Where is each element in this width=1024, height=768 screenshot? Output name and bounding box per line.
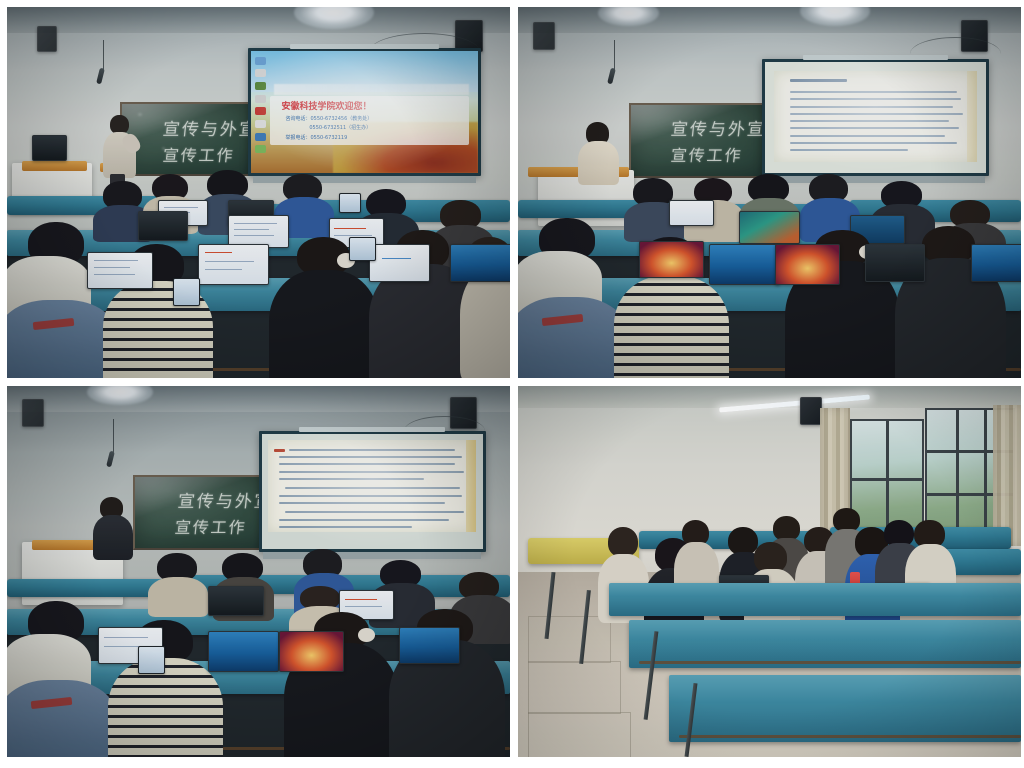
welcome-title: 安徽科技学院欢迎您！: [281, 99, 460, 112]
document-text-line: [790, 98, 961, 100]
laptop-screen: [450, 244, 510, 281]
classroom-scene-4: [518, 386, 1021, 757]
screen-text-line: [205, 261, 254, 262]
document-side-ribbon: [967, 71, 977, 162]
screen-text-line: [205, 252, 232, 253]
student-foreground-denim: [7, 601, 118, 757]
screen-text-line: [234, 223, 277, 224]
laptop-screen: [138, 211, 188, 241]
floor-tile: [528, 661, 621, 715]
student-laptop[interactable]: [138, 211, 188, 241]
photo-panel-top-right: 宣传与外宣 宣传工作: [518, 7, 1021, 378]
presenter: [578, 122, 618, 181]
document-text-line: [279, 526, 412, 528]
student-striped-sweater: [614, 276, 730, 378]
desktop-icon-column: [254, 54, 270, 169]
student-denim-jacket: [7, 680, 118, 757]
student: [148, 553, 208, 616]
student-body: [460, 265, 510, 378]
student-laptop[interactable]: [369, 244, 429, 281]
document-text-line: [790, 149, 908, 151]
blackboard: 宣传与外宣 宣传工作: [120, 102, 257, 176]
wall-speaker-left-icon: [22, 399, 44, 427]
instructor-at-board: [103, 115, 138, 189]
document-text-line: [279, 478, 425, 480]
podium-laptop-screen: [32, 135, 67, 161]
student-denim-jacket: [7, 300, 118, 378]
document-side-ribbon: [466, 440, 476, 532]
screen-text-line: [334, 235, 371, 236]
laptop-screen: [208, 586, 263, 616]
student-striped-sweater: [108, 658, 224, 757]
desktop-icon[interactable]: [255, 120, 266, 128]
screen-text-line: [164, 207, 198, 208]
laptop-screen: [971, 244, 1021, 281]
student-laptop[interactable]: [639, 241, 704, 278]
podium-top-surface: [22, 161, 87, 171]
document-text-line: [289, 449, 455, 451]
desktop-icon[interactable]: [255, 57, 266, 65]
laptop-screen: [639, 241, 704, 278]
laptop-screen: [399, 627, 459, 664]
blackboard-text-line1: 宣传与外宣: [670, 115, 768, 140]
student-laptop[interactable]: [709, 244, 779, 285]
screen-text-line: [345, 599, 377, 600]
laptop-screen: [198, 244, 268, 285]
desktop-icon[interactable]: [255, 69, 266, 77]
desktop-icon[interactable]: [255, 95, 266, 103]
desk-row-1: [669, 675, 1021, 742]
projection-screen: [762, 59, 989, 176]
student-laptop[interactable]: [971, 244, 1021, 281]
laptop-screen: [669, 200, 714, 226]
student-body: [269, 270, 380, 378]
screen-text-line: [94, 260, 138, 261]
welcome-contact-line-2: 0550-6732511（招生办）: [309, 124, 371, 131]
student-phone[interactable]: [138, 646, 165, 674]
laptop-screen: [775, 244, 840, 285]
desktop-icon[interactable]: [255, 82, 266, 90]
screen-text-line: [382, 258, 411, 259]
slide-campus-photo: [274, 84, 469, 95]
presenter: [93, 497, 133, 556]
screen-text-line: [94, 274, 136, 275]
desktop-icon[interactable]: [255, 145, 266, 153]
document-text-line: [285, 487, 460, 489]
laptop-screen: [208, 631, 278, 672]
wall-speaker-left-icon: [37, 26, 57, 52]
blackboard: 宣传与外宣 宣传工作: [629, 103, 769, 177]
document-text-line: [790, 91, 957, 93]
blackboard: 宣传与外宣 宣传工作: [133, 475, 273, 549]
desk-edge: [679, 735, 1021, 738]
student-laptop[interactable]: [208, 586, 263, 616]
podium-laptop: [32, 135, 67, 161]
chalk-dust: [162, 147, 165, 150]
document-text-line: [790, 120, 949, 122]
laptop-screen: [369, 244, 429, 281]
desktop-icon[interactable]: [255, 133, 266, 141]
window-mullion: [956, 410, 959, 544]
screen-text-line: [94, 267, 131, 268]
student-phone[interactable]: [339, 193, 361, 214]
classroom-scene-1: 宣传与外宣 宣传工作: [7, 7, 510, 378]
student-laptop[interactable]: [399, 627, 459, 664]
projected-document: [268, 440, 476, 532]
document-text-line: [279, 502, 445, 504]
hair-tie: [358, 628, 375, 642]
student-laptop[interactable]: [669, 200, 714, 226]
screen-text-line: [334, 228, 366, 229]
student-head: [608, 527, 638, 557]
floor-tile: [528, 616, 610, 663]
photo-panel-bottom-left: 宣传与外宣 宣传工作: [7, 386, 510, 757]
welcome-contact-line-1: 咨询电话：0550-6732456（教务处）: [285, 115, 372, 122]
student-foreground-denim: [518, 218, 629, 378]
student-laptop[interactable]: [198, 244, 268, 285]
document-text-line: [279, 471, 464, 473]
laptop-screen: [865, 244, 925, 281]
document-text-line: [790, 113, 963, 115]
presenter-coat: [578, 141, 618, 185]
document-text-line: [279, 456, 462, 458]
desk-edge: [639, 661, 1021, 664]
wall-speaker-icon: [800, 397, 822, 425]
photo-panel-bottom-right: [518, 386, 1021, 757]
laptop-screen: [87, 252, 152, 289]
student-laptop[interactable]: [450, 244, 510, 281]
blackboard-text-line2: 宣传工作: [162, 142, 236, 166]
welcome-contact-line-3: 举报电话：0550-6732119: [285, 134, 347, 141]
microphone-cable: [103, 40, 104, 70]
document-text-line: [790, 106, 953, 108]
document-heading-marker: [274, 449, 284, 452]
projection-screen: [259, 431, 486, 552]
projection-surface: [765, 62, 986, 173]
projection-screen: 安徽科技学院欢迎您！ 咨询电话：0550-6732456（教务处） 0550-6…: [248, 48, 480, 176]
projection-surface: [262, 434, 483, 549]
document-text-line: [279, 495, 462, 497]
microphone-cable: [113, 419, 114, 452]
document-text-line: [790, 127, 959, 129]
screen-text-line: [205, 269, 242, 270]
blackboard-text-line2: 宣传工作: [174, 514, 248, 538]
blackboard-text-line1: 宣传与外宣: [162, 115, 257, 140]
student-laptop[interactable]: [208, 631, 278, 672]
floor-tile: [528, 712, 631, 757]
student-laptop[interactable]: [775, 244, 840, 285]
microphone-cable: [614, 40, 615, 70]
document-text-line: [279, 463, 456, 465]
student-laptop[interactable]: [279, 631, 344, 672]
welcome-banner: 安徽科技学院欢迎您！ 咨询电话：0550-6732456（教务处） 0550-6…: [270, 96, 469, 145]
blackboard-text-line2: 宣传工作: [670, 142, 744, 166]
desktop-icon[interactable]: [255, 107, 266, 115]
wall-speaker-left-icon: [533, 22, 555, 50]
screen-text-line: [345, 606, 381, 607]
document-text-line: [285, 511, 464, 513]
student-phone[interactable]: [173, 278, 200, 306]
document-text-line: [790, 135, 945, 137]
student-laptop[interactable]: [865, 244, 925, 281]
desk-row-3: [609, 583, 1021, 616]
document-text-line: [279, 519, 450, 521]
welcome-slide: 安徽科技学院欢迎您！ 咨询电话：0550-6732456（教务处） 0550-6…: [251, 51, 477, 173]
screen-text-line: [104, 637, 148, 638]
chalk-dust: [138, 113, 142, 116]
screen-mount: [299, 427, 445, 432]
classroom-scene-3: 宣传与外宣 宣传工作: [7, 386, 510, 757]
projected-document: [774, 71, 978, 162]
photo-panel-top-left: 宣传与外宣 宣传工作: [7, 7, 510, 378]
student-foreground-denim: [7, 222, 118, 378]
laptop-screen: [709, 244, 779, 285]
student-denim-jacket: [518, 297, 629, 378]
projection-surface: 安徽科技学院欢迎您！ 咨询电话：0550-6732456（教务处） 0550-6…: [251, 51, 477, 173]
instructor-head: [110, 115, 128, 134]
screen-mount: [290, 44, 439, 49]
student-body: [148, 577, 208, 617]
photo-collage: 宣传与外宣 宣传工作: [0, 0, 1024, 768]
presenter-vest: [93, 515, 133, 560]
laptop-screen: [279, 631, 344, 672]
classroom-scene-2: 宣传与外宣 宣传工作: [518, 7, 1021, 378]
screen-mount: [803, 55, 949, 60]
screen-text-line: [234, 229, 269, 230]
student-laptop[interactable]: [87, 252, 152, 289]
student-phone[interactable]: [349, 237, 376, 261]
document-text-line: [790, 142, 957, 144]
document-heading: [790, 79, 847, 82]
window-mullion: [852, 478, 922, 481]
screen-text-line: [104, 646, 141, 647]
window-mullion: [984, 410, 987, 544]
curtain-right: [993, 405, 1021, 546]
